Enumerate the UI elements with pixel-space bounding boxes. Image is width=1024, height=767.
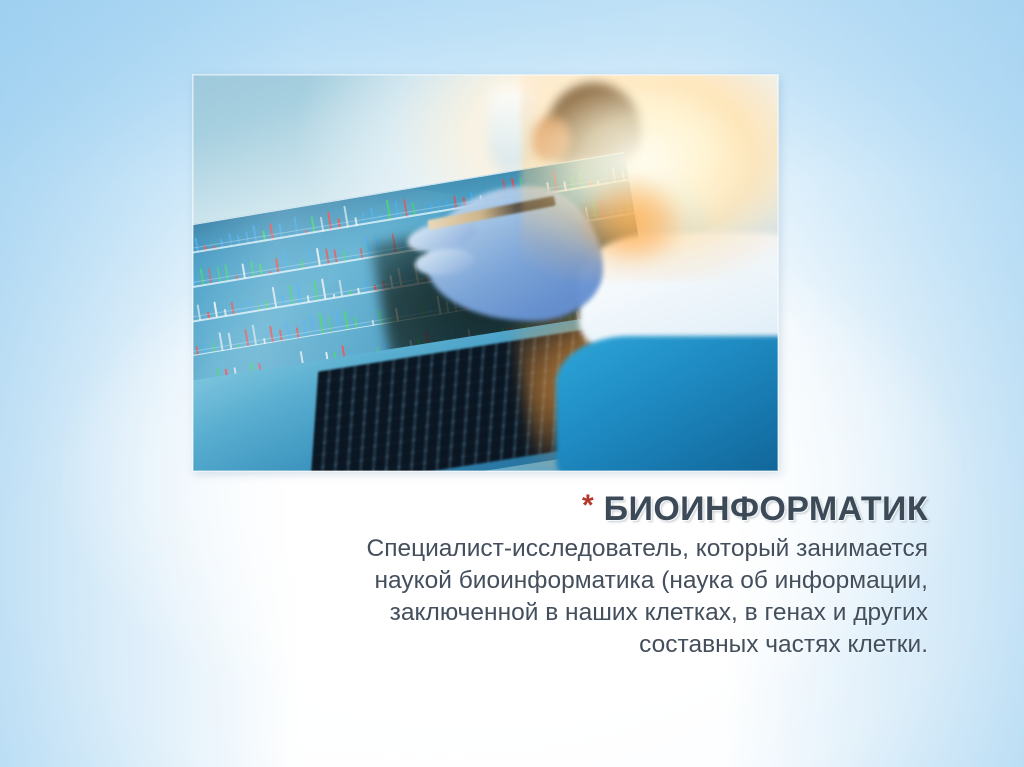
body-line: наукой биоинформатика (наука об информац… [250, 565, 928, 597]
body-line: заключенной в наших клетках, в генах и д… [250, 597, 928, 629]
page-title: БИОИНФОРМАТИК [604, 492, 928, 527]
title-row: * БИОИНФОРМАТИК [250, 492, 928, 527]
bioinformatics-lab-photo [193, 75, 778, 471]
body-line: Специалист-исследователь, который занима… [250, 533, 928, 565]
body-paragraph: Специалист-исследователь, который занима… [250, 533, 928, 660]
body-line: составных частях клетки. [250, 629, 928, 661]
asterisk-bullet-icon: * [582, 491, 594, 521]
blue-glove-forearm [556, 336, 778, 471]
text-block: * БИОИНФОРМАТИК Специалист-исследователь… [250, 492, 928, 661]
slide: * БИОИНФОРМАТИК Специалист-исследователь… [0, 0, 1024, 767]
sun-flare-secondary [579, 178, 684, 265]
